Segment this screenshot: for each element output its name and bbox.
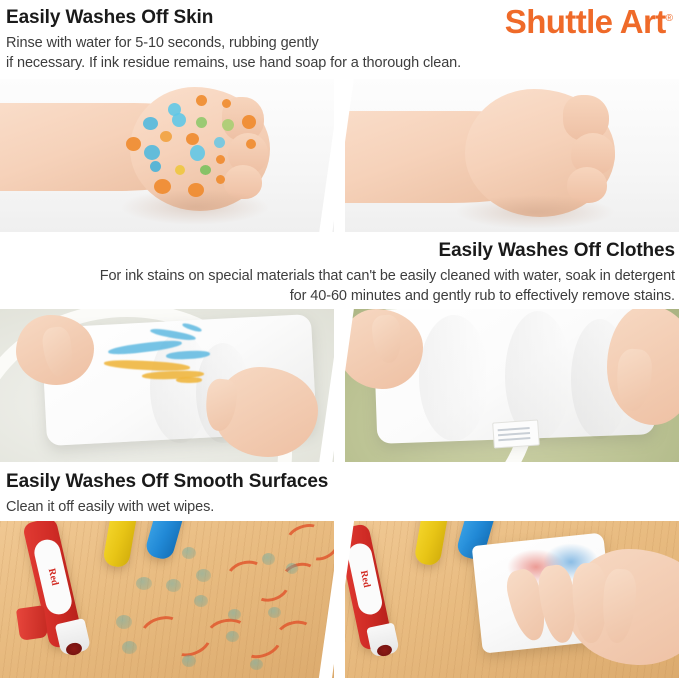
photo-shirt-clean bbox=[345, 309, 679, 462]
registered-trademark-icon: ® bbox=[666, 13, 673, 24]
brand-logo: Shuttle Art® bbox=[505, 2, 673, 39]
photo-table-with-marks: Red bbox=[0, 521, 334, 678]
section-surfaces-body-line1: Clean it off easily with wet wipes. bbox=[6, 498, 328, 518]
brand-name: Shuttle Art bbox=[505, 3, 666, 40]
section-surfaces-photos: Red bbox=[0, 521, 679, 678]
section-clothes-heading: Easily Washes Off Clothes bbox=[0, 239, 675, 263]
infographic-page: Shuttle Art® Easily Washes Off Skin Rins… bbox=[0, 0, 679, 678]
marker-red-label-text: Red bbox=[46, 567, 61, 586]
photo-table-wiped: Red bbox=[345, 521, 679, 678]
marker-yellow bbox=[102, 521, 140, 569]
section-skin-photos bbox=[0, 79, 679, 232]
section-skin-heading: Easily Washes Off Skin bbox=[6, 6, 461, 30]
photo-hand-clean bbox=[345, 79, 679, 232]
photo-shirt-stained bbox=[0, 309, 334, 462]
photo-hand-with-ink bbox=[0, 79, 334, 232]
section-clothes-text: Easily Washes Off Clothes For ink stains… bbox=[0, 239, 675, 306]
section-surfaces-heading: Easily Washes Off Smooth Surfaces bbox=[6, 470, 328, 494]
marker-yellow bbox=[413, 521, 450, 567]
marker-blue bbox=[144, 521, 189, 562]
marker-red-cap bbox=[16, 605, 48, 641]
shirt-care-label bbox=[492, 419, 540, 448]
section-skin-body-line1: Rinse with water for 5-10 seconds, rubbi… bbox=[6, 34, 461, 54]
section-surfaces-text: Easily Washes Off Smooth Surfaces Clean … bbox=[6, 470, 328, 518]
section-clothes-body-line1: For ink stains on special materials that… bbox=[0, 267, 675, 287]
section-clothes-body-line2: for 40-60 minutes and gently rub to effe… bbox=[0, 287, 675, 307]
section-clothes-photos bbox=[0, 309, 679, 462]
marker-red-label-text: Red bbox=[358, 569, 372, 588]
section-skin-text: Easily Washes Off Skin Rinse with water … bbox=[6, 6, 461, 73]
section-skin-body-line2: if necessary. If ink residue remains, us… bbox=[6, 54, 461, 74]
